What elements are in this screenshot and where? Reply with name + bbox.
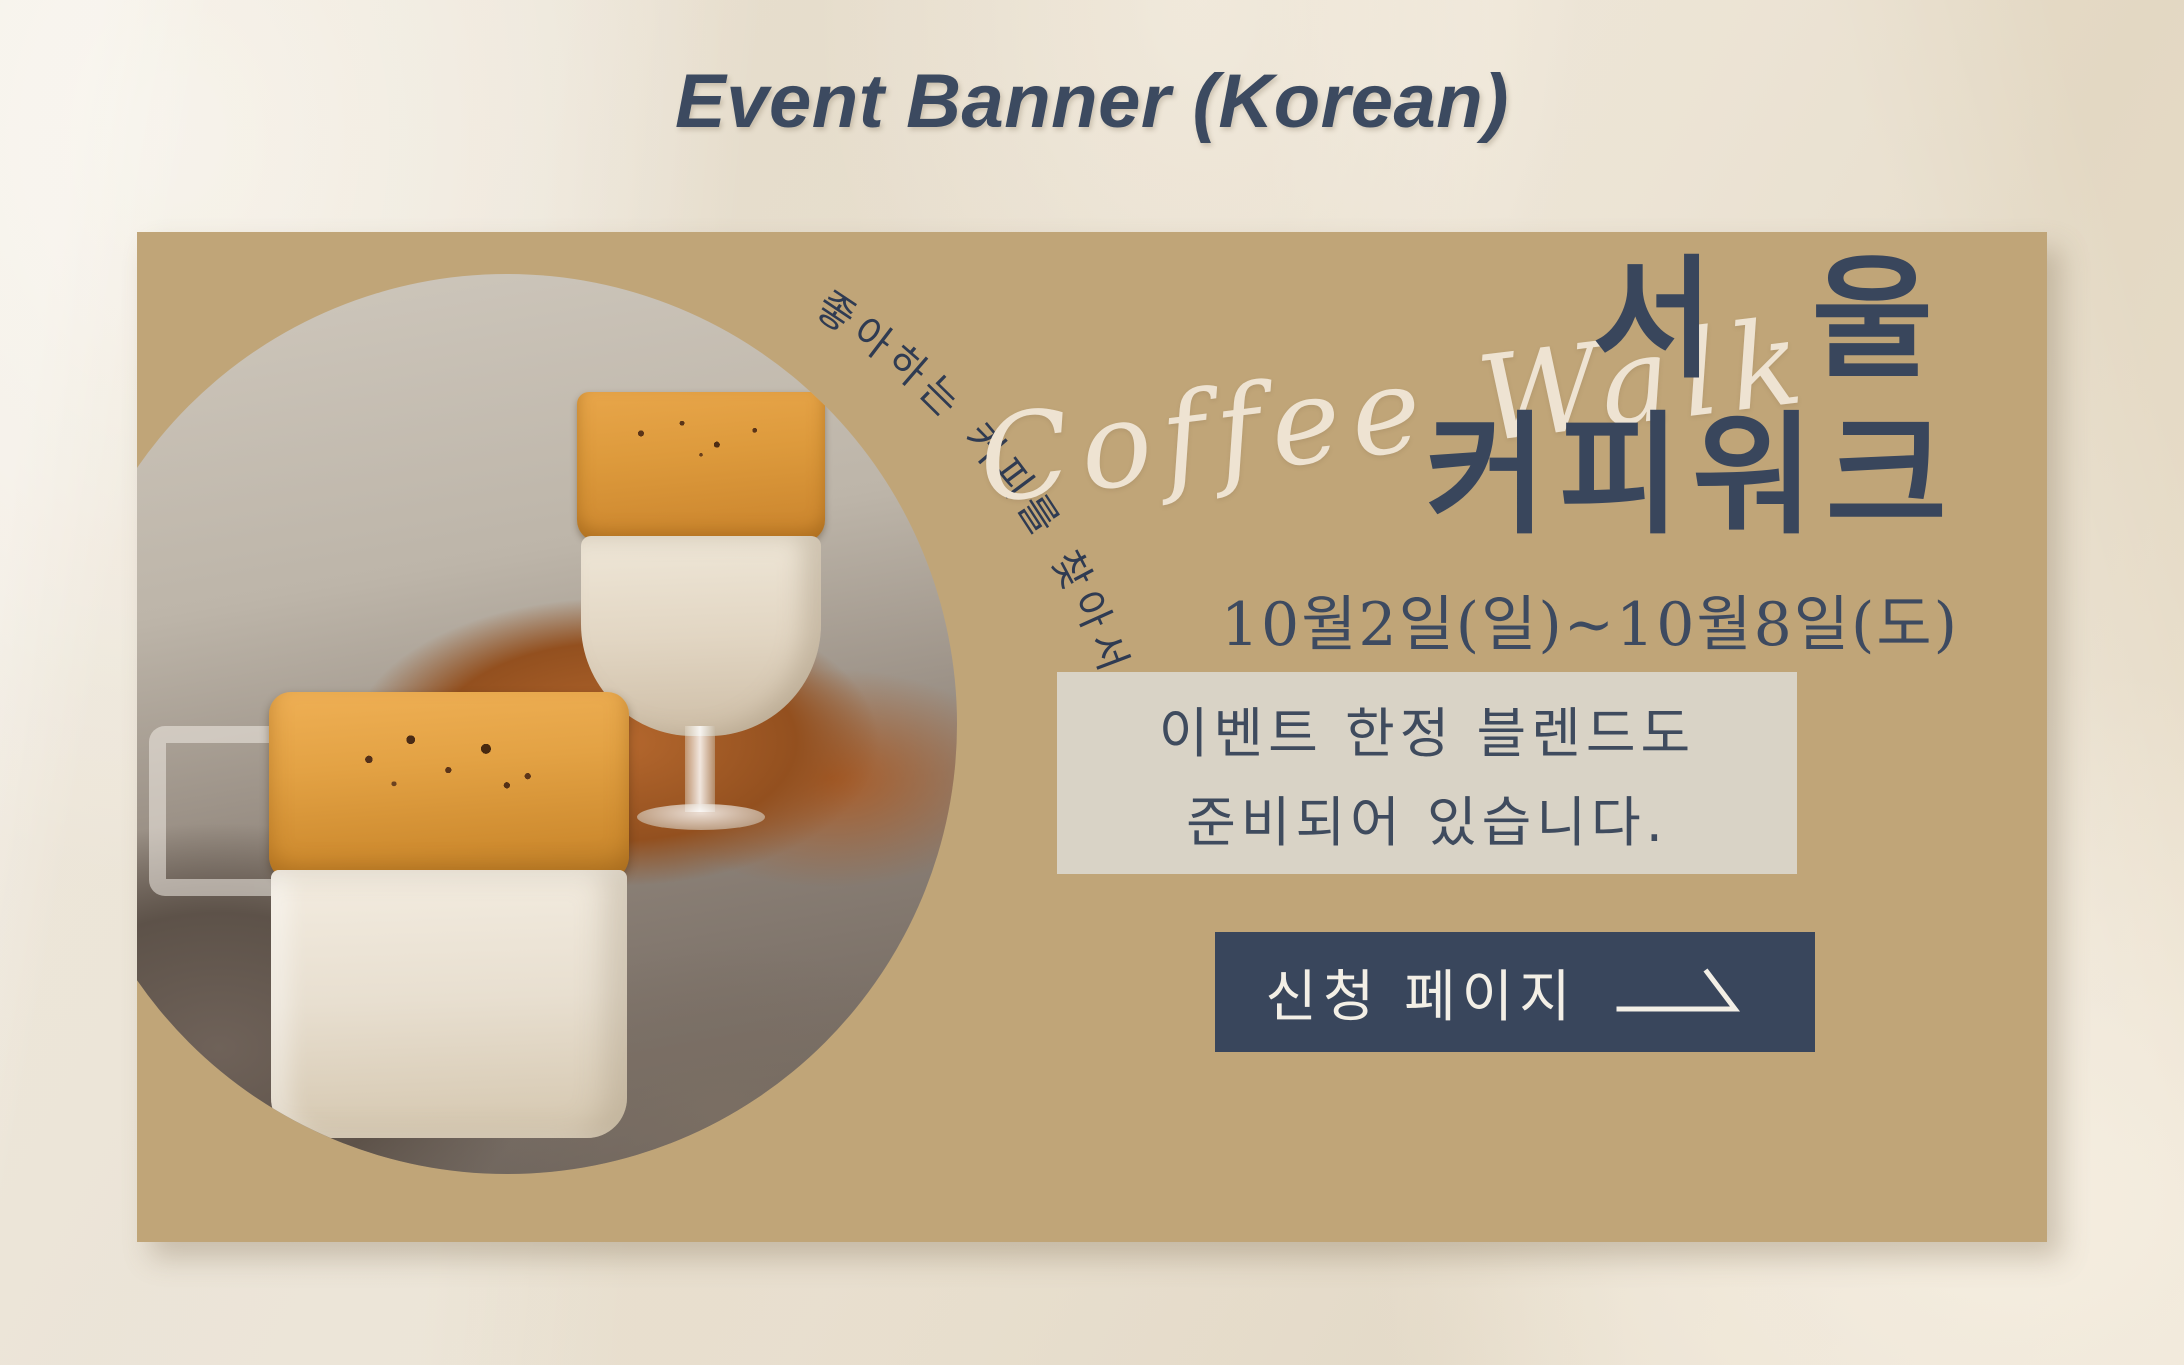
info-line-1: 이벤트 한정 블렌드도 [1159, 689, 1695, 768]
apply-page-button[interactable]: 신청 페이지 [1215, 932, 1815, 1052]
event-banner-card: 좋아하는 커피를 찾아서 나가자! Coffee Walk 서 울 커피워크 1… [137, 232, 2047, 1242]
mug-foam-layer [269, 692, 629, 882]
info-line-2: 준비되어 있습니다. [1186, 778, 1668, 857]
goblet-stem [685, 726, 715, 812]
long-arrow-right-icon [1615, 962, 1765, 1022]
banner-right-column: Coffee Walk 서 울 커피워크 10월2일(일)~10월8일(도) 이… [1067, 232, 2047, 1242]
limited-blend-info-box: 이벤트 한정 블렌드도 준비되어 있습니다. [1057, 672, 1797, 874]
page-backdrop: Event Banner (Korean) 좋아하는 커피를 찾아서 나가자! [0, 0, 2184, 1365]
mug-milk-layer [271, 870, 627, 1138]
page-title: Event Banner (Korean) [0, 58, 2184, 145]
event-dates: 10월2일(일)~10월8일(도) [1221, 576, 1959, 663]
mug-handle [149, 726, 289, 896]
headline-line-2: 커피워크 [1425, 410, 1959, 542]
apply-page-label: 신청 페이지 [1265, 952, 1576, 1033]
headline-line-1: 서 울 [1592, 254, 1959, 386]
